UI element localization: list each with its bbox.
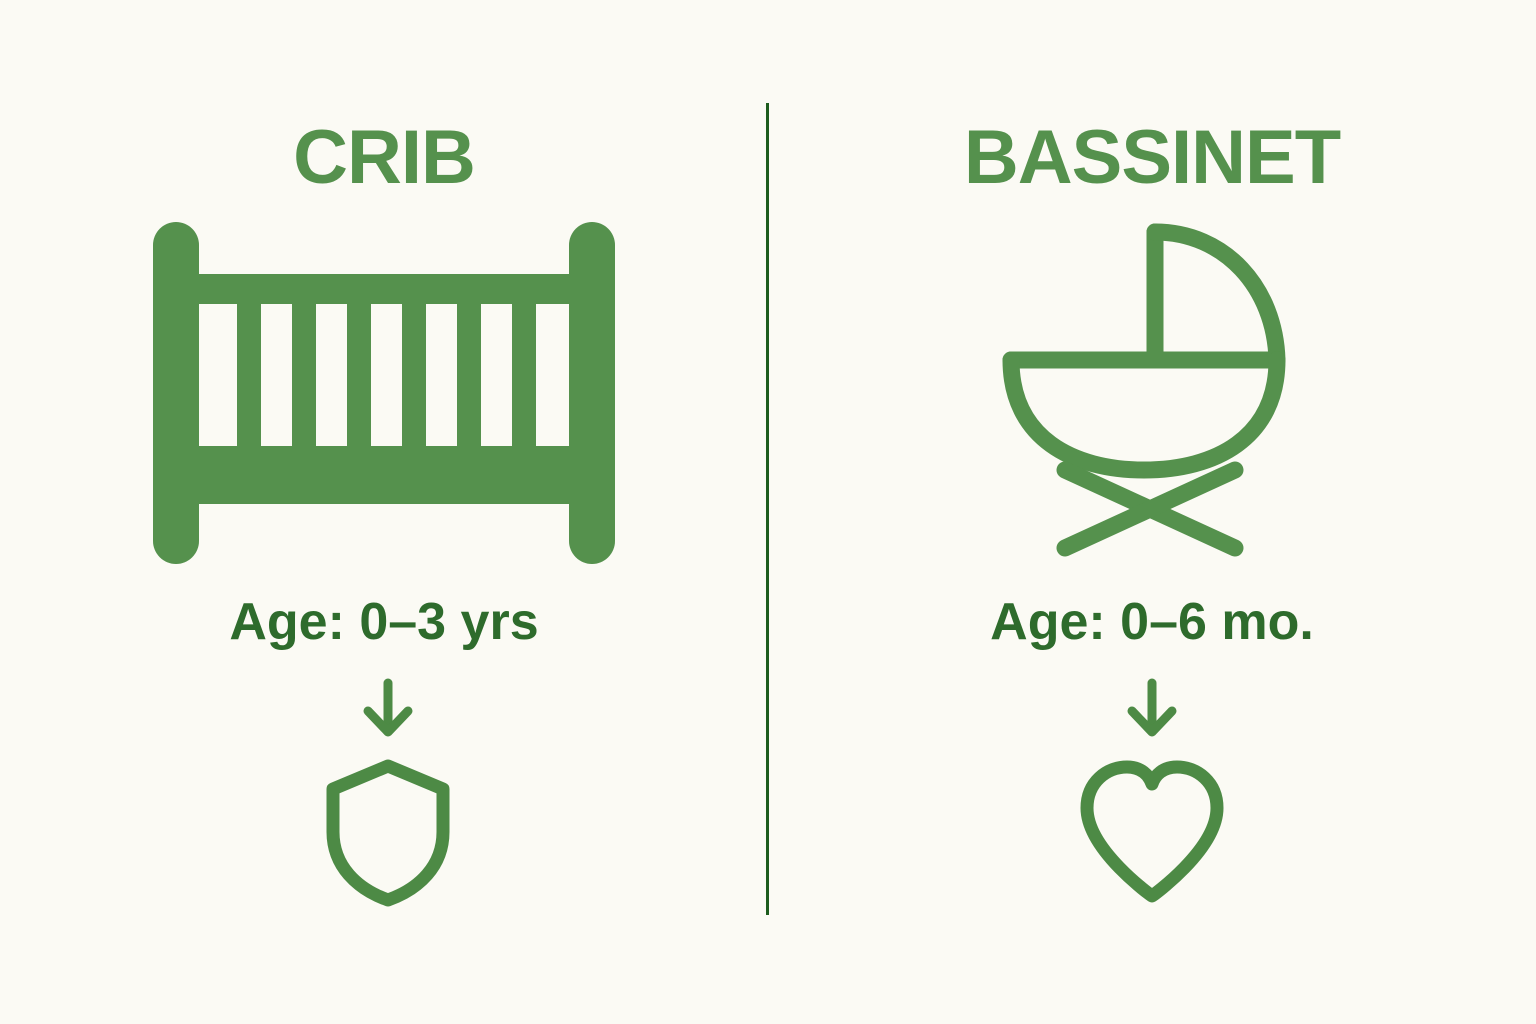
page-title-crib: CRIB bbox=[293, 120, 475, 196]
age-label-crib: Age: 0–3 yrs bbox=[229, 596, 538, 648]
heart-icon bbox=[1077, 758, 1227, 904]
page-title-bassinet: BASSINET bbox=[964, 120, 1340, 196]
arrow-down-icon bbox=[361, 678, 415, 740]
shield-icon bbox=[323, 758, 453, 908]
panel-bassinet: BASSINET Age: 0–6 mo. bbox=[768, 0, 1536, 1024]
bassinet-icon bbox=[987, 218, 1327, 568]
age-label-bassinet: Age: 0–6 mo. bbox=[990, 596, 1314, 648]
crib-icon bbox=[149, 218, 619, 568]
panel-crib: CRIB Age: 0–3 yrs bbox=[0, 0, 768, 1024]
comparison-board: CRIB Age: 0–3 yrs bbox=[0, 0, 1536, 1024]
arrow-down-icon bbox=[1125, 678, 1179, 740]
